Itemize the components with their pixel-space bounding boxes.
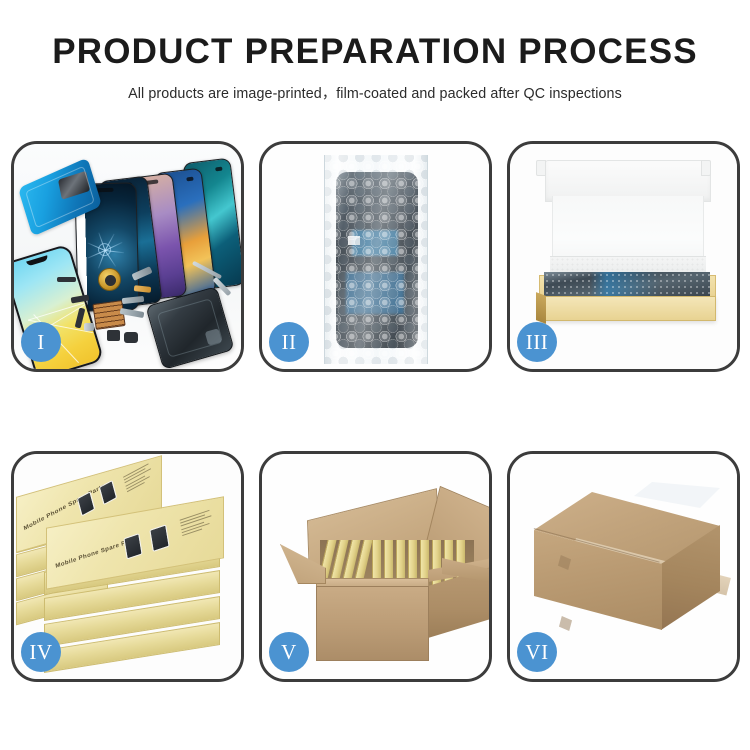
vibration-motor-part [98, 268, 121, 291]
box-print-lines-front [180, 509, 215, 538]
part-bracket [84, 323, 94, 331]
part-camera-module [107, 330, 120, 341]
step-panel-1: I [11, 141, 244, 372]
lid-tab-right [701, 160, 711, 176]
step-panel-5: V [259, 451, 492, 682]
product-preparation-infographic: PRODUCT PREPARATION PROCESS All products… [0, 0, 750, 750]
step-badge-1: I [21, 322, 61, 362]
box-print-image-front-2 [149, 524, 169, 552]
carton-front-seam [534, 528, 662, 600]
carton-front-panel [316, 586, 429, 661]
mailer-box-front-panel [539, 296, 716, 321]
boxed-wrapped-screen [544, 272, 710, 298]
steps-grid: I II [11, 141, 740, 682]
step-badge-6: VI [517, 632, 557, 672]
page-subtitle: All products are image-printed，film-coat… [0, 82, 750, 103]
step-panel-4: Mobile Phone Spare Parts Mobile Phone Sp… [11, 451, 244, 682]
step-panel-2: II [259, 141, 492, 372]
mailer-box-left-corner [536, 292, 546, 324]
step-badge-4: IV [21, 632, 61, 672]
step-panel-3: III [507, 141, 740, 372]
copper-mesh-part [92, 300, 125, 330]
lid-tab-left [536, 160, 546, 176]
step-badge-5: V [269, 632, 309, 672]
page-title: PRODUCT PREPARATION PROCESS [0, 34, 750, 71]
step-badge-2: II [269, 322, 309, 362]
crack-pattern [84, 229, 125, 270]
part-taptic-engine [124, 332, 138, 343]
box-print-image-front-1 [123, 533, 142, 559]
step-panel-6: VI [507, 451, 740, 682]
bubble-wrap-sleeve [324, 155, 428, 364]
header: PRODUCT PREPARATION PROCESS All products… [0, 34, 750, 103]
part-speaker-mesh [57, 277, 76, 282]
step-badge-3: III [517, 322, 557, 362]
box-print-lines-rear [123, 462, 155, 494]
plastic-sheen [325, 155, 427, 364]
